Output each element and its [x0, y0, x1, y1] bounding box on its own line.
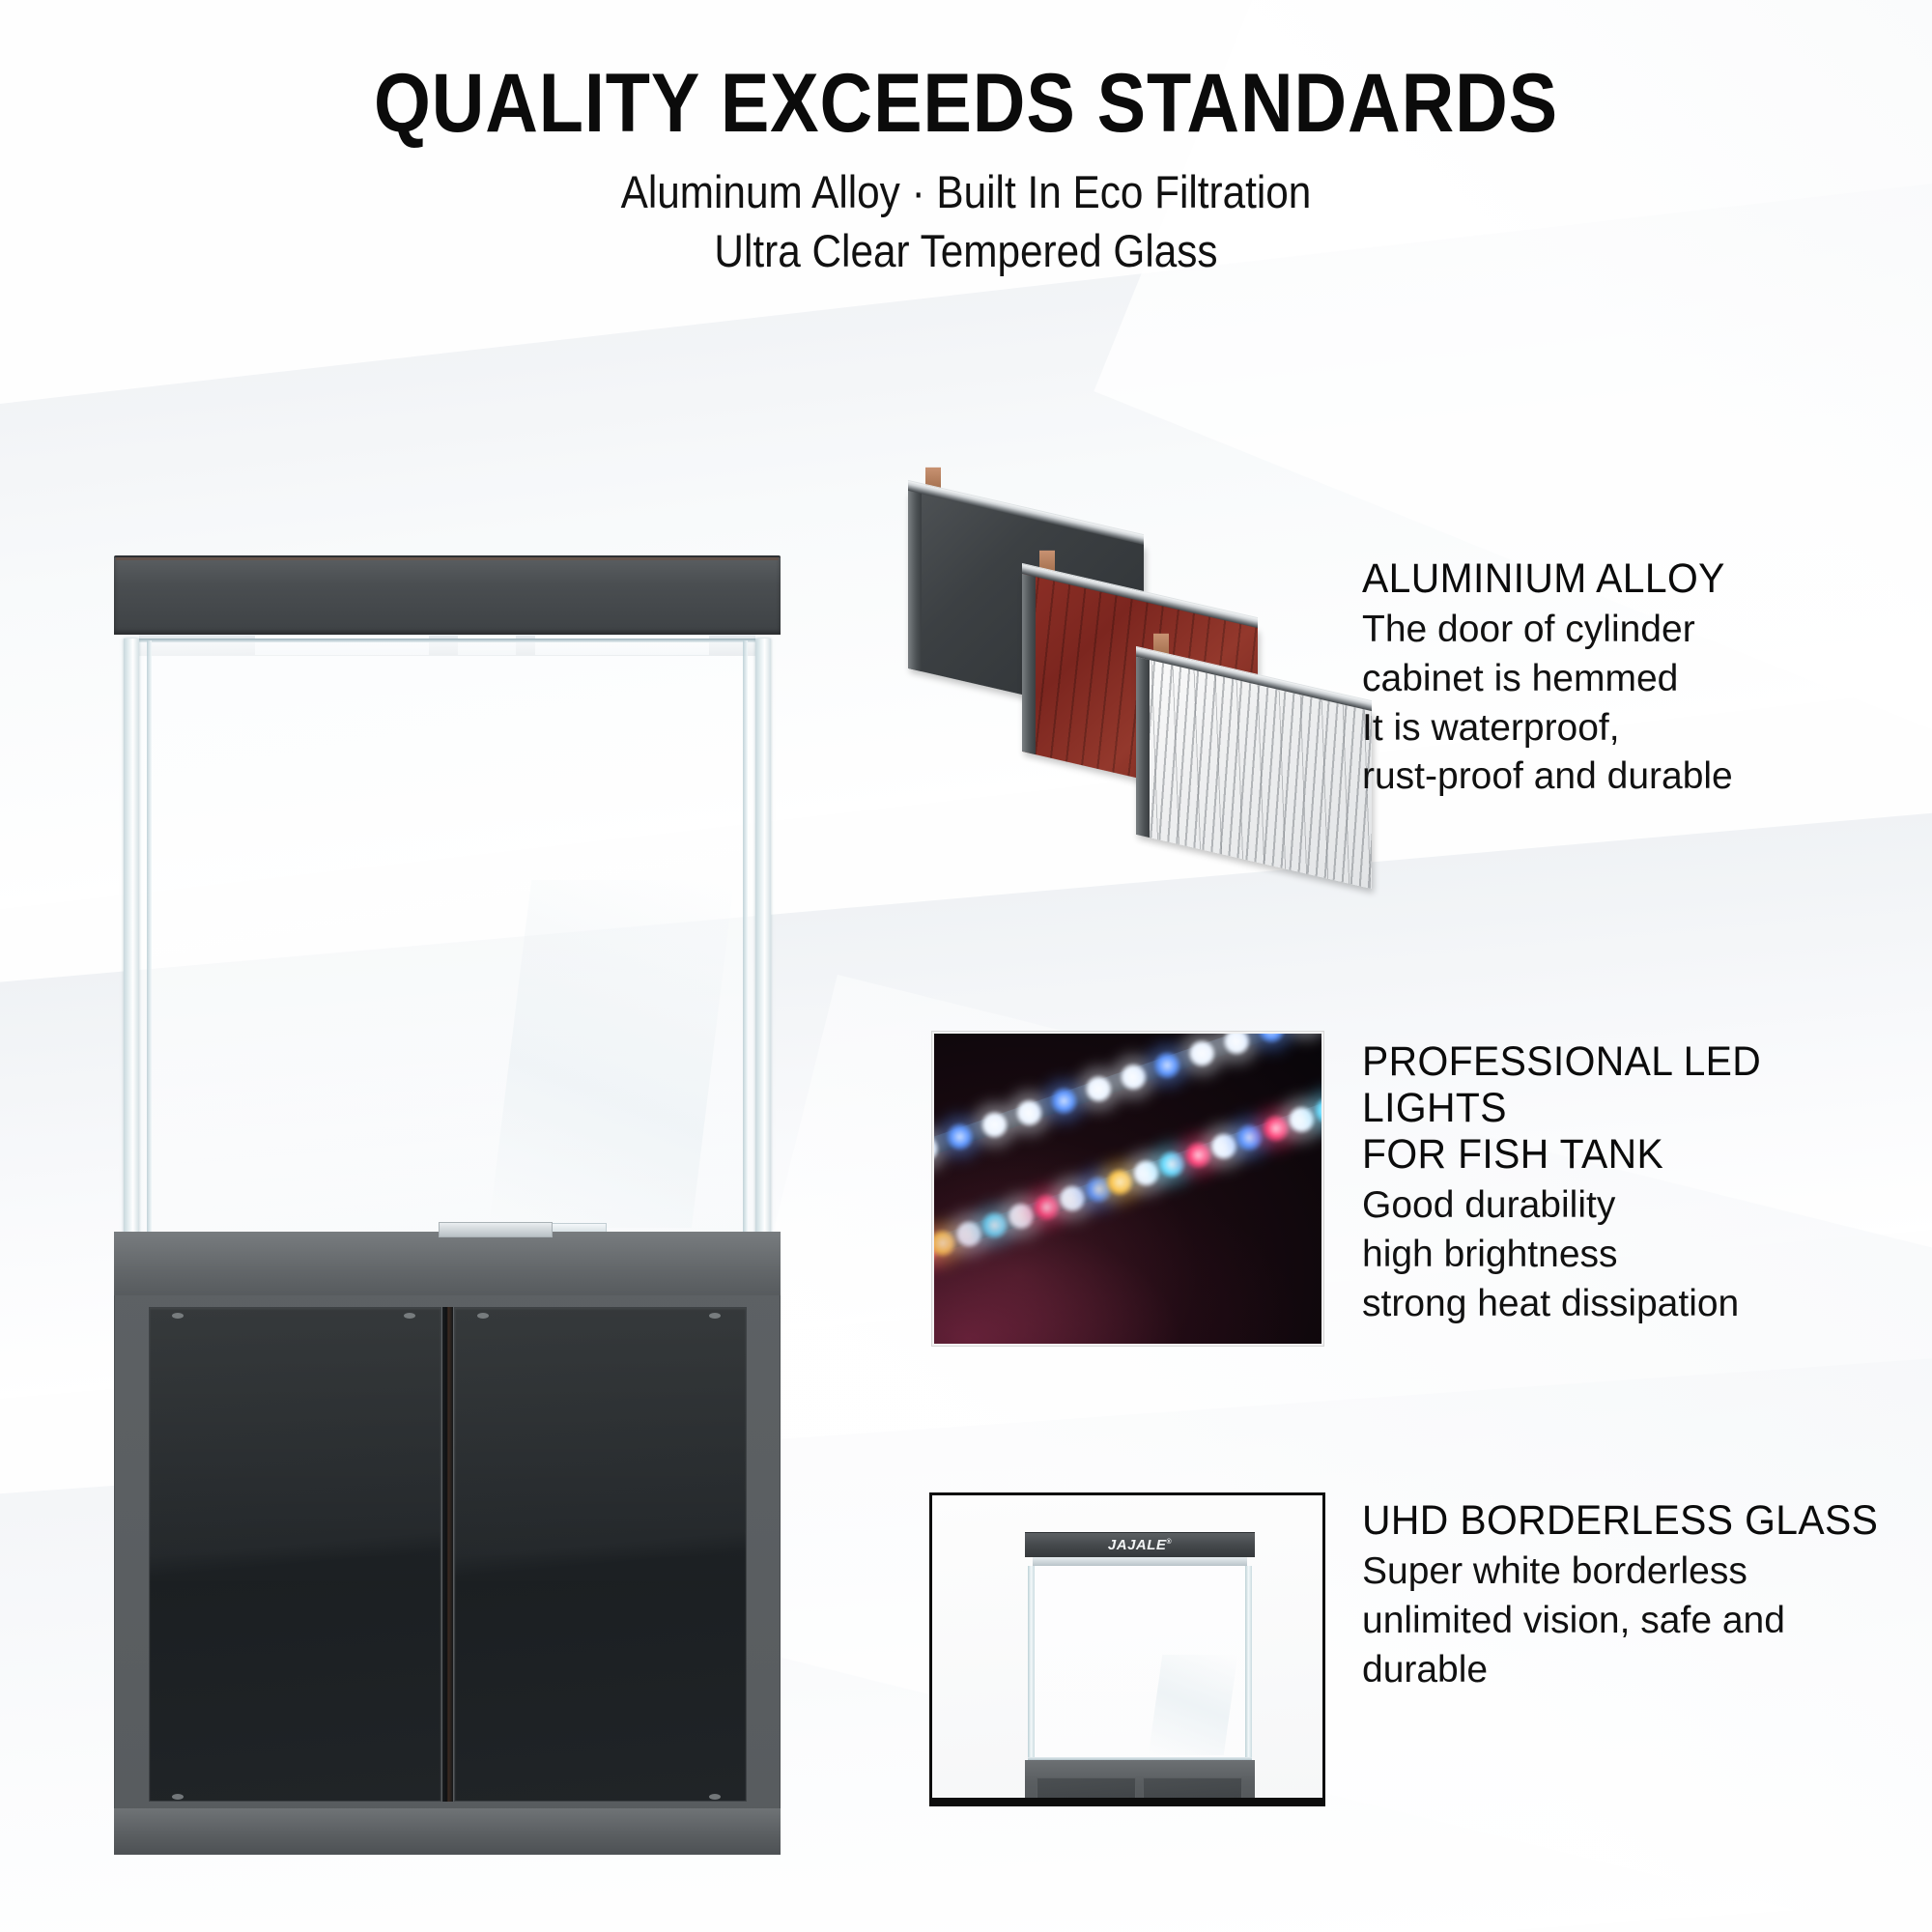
infographic-page: QUALITY EXCEEDS STANDARDS Aluminum Alloy… — [0, 0, 1932, 1932]
feature-uhd-borderless-glass: UHD BORDERLESS GLASS Super white borderl… — [1362, 1497, 1922, 1694]
mini-glass-tank — [1028, 1566, 1252, 1761]
mini-aquarium: JAJALE® — [1025, 1532, 1255, 1806]
features-column: ALUMINIUM ALLOY The door of cylinder cab… — [0, 0, 1932, 1932]
alloy-panel-white-texture — [1136, 657, 1372, 889]
feature-body-led-lights: Good durability high brightness strong h… — [1362, 1181, 1922, 1328]
mini-glass-right — [1245, 1566, 1252, 1761]
brand-name: JAJALE — [1108, 1537, 1167, 1553]
registered-mark: ® — [1166, 1539, 1172, 1546]
alloy-panel-edge-2 — [1022, 574, 1036, 754]
led-glow-field — [932, 1151, 1301, 1346]
alloy-panel-edge-1 — [908, 491, 922, 671]
borderless-tank-photo: JAJALE® — [929, 1492, 1325, 1806]
feature-professional-led-lights: PROFESSIONAL LED LIGHTS FOR FISH TANK Go… — [1362, 1038, 1922, 1329]
feature-title-uhd-glass: UHD BORDERLESS GLASS — [1362, 1497, 1894, 1544]
feature-body-aluminium-alloy: The door of cylinder cabinet is hemmed I… — [1362, 606, 1903, 802]
feature-title-led-lights: PROFESSIONAL LED LIGHTS FOR FISH TANK — [1362, 1038, 1894, 1178]
mini-glass-left — [1028, 1566, 1035, 1761]
feature-aluminium-alloy: ALUMINIUM ALLOY The door of cylinder cab… — [1362, 555, 1903, 802]
feature-body-uhd-glass: Super white borderless unlimited vision,… — [1362, 1548, 1922, 1694]
led-strip-photo — [932, 1032, 1323, 1346]
photo-bottom-bar — [932, 1798, 1322, 1804]
alloy-panels-art — [898, 483, 1381, 889]
feature-title-aluminium-alloy: ALUMINIUM ALLOY — [1362, 555, 1876, 602]
mini-glass-reflection — [1149, 1655, 1238, 1755]
alloy-panel-edge-3 — [1136, 657, 1150, 838]
mini-led-strip — [1033, 1557, 1247, 1566]
brand-logo: JAJALE® — [1025, 1537, 1255, 1553]
mini-led-hood: JAJALE® — [1025, 1532, 1255, 1557]
